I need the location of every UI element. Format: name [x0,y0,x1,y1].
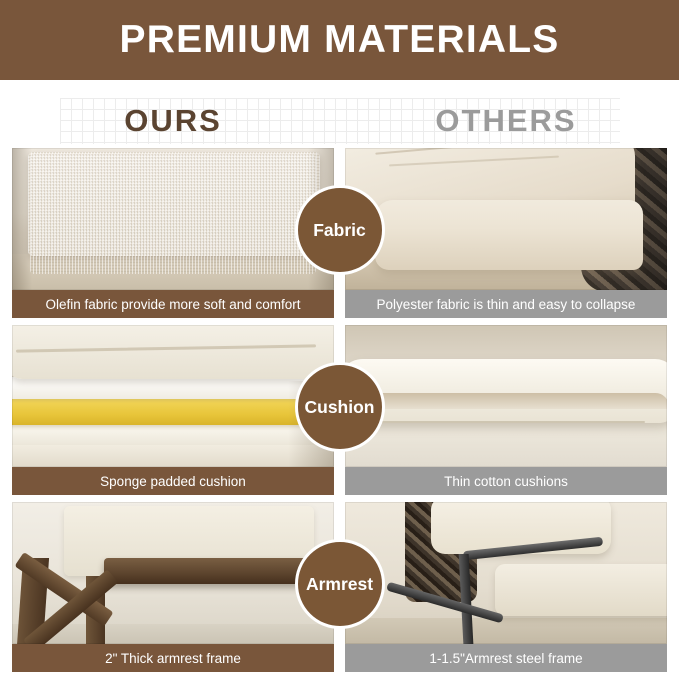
column-heading-others: OTHERS [345,96,667,146]
header-banner: PREMIUM MATERIALS [0,0,679,80]
others-armrest-photo [345,502,667,644]
ours-cell-cushion: Sponge padded cushion [12,325,334,495]
column-headings: OURS OTHERS [0,96,679,146]
ours-fabric-caption: Olefin fabric provide more soft and comf… [12,290,334,318]
badge-fabric: Fabric [295,185,385,275]
others-cell-fabric: Polyester fabric is thin and easy to col… [345,148,667,318]
others-cushion-caption: Thin cotton cushions [345,467,667,495]
badge-armrest: Armrest [295,539,385,629]
ours-cell-armrest: 2" Thick armrest frame [12,502,334,672]
others-fabric-photo [345,148,667,290]
ours-armrest-photo [12,502,334,644]
ours-armrest-caption: 2" Thick armrest frame [12,644,334,672]
badge-cushion: Cushion [295,362,385,452]
comparison-infographic: PREMIUM MATERIALS OURS OTHERS Olefin fab… [0,0,679,679]
others-cell-cushion: Thin cotton cushions [345,325,667,495]
column-heading-ours: OURS [12,96,334,146]
others-armrest-caption: 1-1.5"Armrest steel frame [345,644,667,672]
page-title: PREMIUM MATERIALS [120,18,560,62]
others-fabric-caption: Polyester fabric is thin and easy to col… [345,290,667,318]
ours-cushion-caption: Sponge padded cushion [12,467,334,495]
ours-cell-fabric: Olefin fabric provide more soft and comf… [12,148,334,318]
ours-fabric-photo [12,148,334,290]
others-cell-armrest: 1-1.5"Armrest steel frame [345,502,667,672]
ours-cushion-photo [12,325,334,467]
others-cushion-photo [345,325,667,467]
